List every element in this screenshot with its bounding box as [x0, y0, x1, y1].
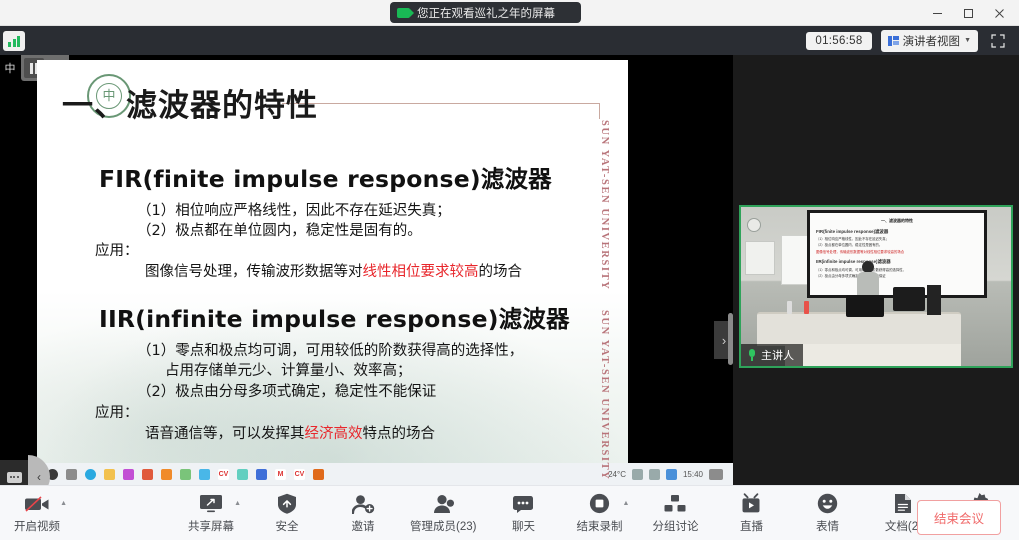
taskbar-icon-explorer[interactable] — [104, 469, 115, 480]
taskbar-icon-edge[interactable] — [85, 469, 96, 480]
front-desk — [785, 344, 961, 366]
chevron-down-icon: ▼ — [964, 37, 971, 44]
taskbar-icon-app4[interactable] — [180, 469, 191, 480]
toolbar-item-chat[interactable]: 聊天 — [494, 486, 552, 540]
speaker-name-label: 主讲人 — [761, 347, 794, 363]
topbar-right-group: 01:56:58 演讲者视图 ▼ — [806, 30, 1019, 52]
iir-point-1b: 占用存储单元少、计算量小、效率高； — [165, 361, 412, 382]
projected-line3: 图像信号处理，传输波形数据等对线性相位要求较高的场合 — [816, 249, 978, 255]
close-button[interactable] — [984, 0, 1015, 26]
iir-app-part-a: 语音通信等，可以发挥其 — [145, 426, 305, 442]
tray-icon-app[interactable] — [666, 469, 677, 480]
breakout-rooms-icon — [664, 493, 686, 515]
chevron-up-icon-record[interactable]: ▲ — [623, 500, 630, 507]
presentation-slide: 中 一、滤波器的特性 FIR(finite impulse response)滤… — [37, 60, 628, 480]
taskbar-weather[interactable]: 24°C — [608, 470, 626, 479]
toolbar-label-invite: 邀请 — [352, 518, 375, 534]
maximize-button[interactable] — [953, 0, 984, 26]
chevron-up-icon-share[interactable]: ▲ — [234, 500, 241, 507]
tray-icon-volume[interactable] — [649, 469, 660, 480]
bottle-white — [787, 301, 792, 314]
iir-application-label: 应用： — [95, 403, 139, 424]
slide-title: 一、滤波器的特性 — [62, 80, 318, 125]
view-mode-button[interactable]: 演讲者视图 ▼ — [881, 30, 978, 52]
monitor — [893, 287, 925, 311]
taskbar-icon-app3[interactable] — [161, 469, 172, 480]
record-stop-icon — [589, 493, 610, 515]
taskbar-icon-cv1[interactable]: CV — [218, 469, 229, 480]
toolbar-center-group: 共享屏幕 ▲ 安全 — [182, 486, 1008, 540]
whiteboard — [781, 235, 809, 285]
window-controls — [922, 0, 1015, 26]
wall-poster — [745, 241, 775, 275]
toolbar-label-reactions: 表情 — [816, 518, 839, 534]
end-meeting-button[interactable]: 结束会议 — [917, 500, 1001, 535]
fir-heading: FIR(finite impulse response)滤波器 — [99, 160, 552, 194]
toolbar-item-breakout-rooms[interactable]: 分组讨论 — [646, 486, 704, 540]
toolbar-label-stop-recording: 结束录制 — [576, 518, 622, 534]
taskbar-icon-app6[interactable] — [237, 469, 248, 480]
toolbar-label-video: 开启视频 — [14, 518, 60, 534]
people-icon — [432, 493, 455, 515]
speaker-video-tile[interactable]: 一、滤波器的特性 FIR(finite impulse response)滤波器… — [739, 205, 1013, 368]
toolbar-item-invite[interactable]: 邀请 — [334, 486, 392, 540]
classroom-scene: 一、滤波器的特性 FIR(finite impulse response)滤波器… — [741, 207, 1011, 366]
chevron-up-icon-video[interactable]: ▲ — [60, 500, 67, 507]
signal-bars-icon[interactable] — [3, 31, 25, 51]
desktop-taskbar: CV M CV 24°C 15:40 — [37, 463, 733, 485]
tray-icon-notification[interactable] — [709, 469, 723, 480]
projected-line5: （2）极点由分母多项式确定，稳定性不能保证 — [816, 273, 978, 279]
fir-app-part-b: 的场合 — [479, 264, 523, 280]
taskbar-clock[interactable]: 15:40 — [683, 470, 703, 479]
taskbar-icon-cv2[interactable]: CV — [294, 469, 305, 480]
projected-h2: IIR(infinite impulse response)滤波器 — [816, 258, 978, 266]
ime-indicator: 中 — [0, 57, 20, 79]
meeting-timer: 01:56:58 — [806, 32, 871, 50]
projected-slide: 一、滤波器的特性 FIR(finite impulse response)滤波器… — [807, 210, 987, 298]
toolbar-label-security: 安全 — [276, 518, 299, 534]
tray-icon-network[interactable] — [632, 469, 643, 480]
toolbar-item-reactions[interactable]: 表情 — [798, 486, 856, 540]
toolbar-item-participants[interactable]: 管理成员(23) — [410, 486, 476, 540]
taskbar-icon-app7[interactable] — [256, 469, 267, 480]
taskbar-icon-app2[interactable] — [142, 469, 153, 480]
meeting-stage: 中 中 一、滤波器的特性 FIR(finite impulse response… — [0, 55, 1019, 485]
laptop — [846, 295, 884, 317]
meeting-topbar: 01:56:58 演讲者视图 ▼ — [0, 26, 1019, 55]
live-broadcast-icon — [741, 493, 761, 515]
taskbar-icon-app1[interactable] — [123, 469, 134, 480]
zoom-meeting-window: 您正在观看巡礼之年的屏幕 menu-icon 01:56:58 演讲者视图 ▼ — [0, 0, 1019, 540]
projected-title: 一、滤波器的特性 — [816, 217, 978, 225]
toolbar-item-share-screen[interactable]: 共享屏幕 ▲ — [182, 486, 240, 540]
chat-icon — [512, 493, 534, 515]
taskbar-icon-app5[interactable] — [199, 469, 210, 480]
window-titlebar: 您正在观看巡礼之年的屏幕 menu-icon — [0, 0, 1019, 26]
iir-application-text: 语音通信等，可以发挥其经济高效特点的场合 — [145, 424, 435, 445]
document-icon — [894, 493, 912, 515]
slide-watermark-bottom: SUN YAT-SEN UNIVERSITY — [592, 310, 610, 480]
taskbar-icon-app8[interactable] — [313, 469, 324, 480]
meeting-toolbar: 开启视频 ▲ 共享屏幕 ▲ — [0, 485, 1019, 540]
fir-app-part-a: 图像信号处理，传输波形数据等对 — [145, 264, 363, 280]
toolbar-item-video[interactable]: 开启视频 ▲ — [8, 486, 66, 540]
minimize-button[interactable] — [922, 0, 953, 26]
screen-share-banner[interactable]: 您正在观看巡礼之年的屏幕 menu-icon — [390, 2, 581, 23]
fir-application-text: 图像信号处理，传输波形数据等对线性相位要求较高的场合 — [145, 262, 522, 283]
share-banner-text: 您正在观看巡礼之年的屏幕 — [417, 5, 555, 21]
speaker-name-chip: 主讲人 — [741, 344, 803, 366]
shared-screen-pane: 中 中 一、滤波器的特性 FIR(finite impulse response… — [0, 55, 733, 485]
toolbar-label-live: 直播 — [740, 518, 763, 534]
toolbar-item-stop-recording[interactable]: 结束录制 ▲ — [570, 486, 628, 540]
lectern-desk — [757, 312, 961, 346]
toolbar-label-chat: 聊天 — [512, 518, 535, 534]
toolbar-item-security[interactable]: 安全 — [258, 486, 316, 540]
wall-clock — [747, 218, 761, 232]
fir-point-1: （1）相位响应严格线性，因此不存在延迟失真； — [137, 201, 451, 222]
emoji-icon — [817, 493, 838, 515]
toolbar-label-breakout-rooms: 分组讨论 — [652, 518, 698, 534]
toolbar-label-share-screen: 共享屏幕 — [188, 518, 234, 534]
title-rule — [282, 103, 600, 104]
slide-watermark-top: SUN YAT-SEN UNIVERSITY — [592, 120, 610, 290]
fir-app-highlight: 线性相位要求较高 — [363, 264, 479, 280]
iir-app-part-b: 特点的场合 — [363, 426, 436, 442]
bottle-red — [804, 301, 809, 314]
toolbar-item-live[interactable]: 直播 — [722, 486, 780, 540]
iir-heading: IIR(infinite impulse response)滤波器 — [99, 300, 570, 334]
iir-app-highlight: 经济高效 — [305, 426, 363, 442]
microphone-icon — [748, 349, 756, 361]
view-mode-label: 演讲者视图 — [903, 33, 961, 49]
camera-off-icon — [24, 493, 50, 515]
projected-h1: FIR(finite impulse response)滤波器 — [816, 228, 978, 236]
iir-point-2: （2）极点由分母多项式确定，稳定性不能保证 — [137, 382, 436, 403]
speaker-view-icon — [888, 36, 899, 46]
pc-tower — [927, 285, 941, 315]
camera-icon — [397, 8, 410, 18]
fullscreen-icon[interactable] — [987, 32, 1009, 50]
taskbar-icon-search[interactable] — [66, 469, 77, 480]
chat-bubble-icon — [7, 472, 22, 483]
video-panel: 一、滤波器的特性 FIR(finite impulse response)滤波器… — [733, 55, 1019, 485]
taskbar-tray: 24°C 15:40 — [608, 469, 723, 480]
screen-share-icon — [199, 493, 223, 515]
fir-point-2: （2）极点都在单位圆内，稳定性是固有的。 — [137, 221, 422, 242]
person-add-icon — [352, 493, 375, 515]
iir-point-1: （1）零点和极点均可调，可用较低的阶数获得高的选择性， — [137, 341, 523, 362]
shield-icon — [277, 493, 297, 515]
taskbar-icon-m[interactable]: M — [275, 469, 286, 480]
toolbar-label-participants: 管理成员(23) — [410, 518, 476, 534]
fir-application-label: 应用： — [95, 241, 139, 262]
